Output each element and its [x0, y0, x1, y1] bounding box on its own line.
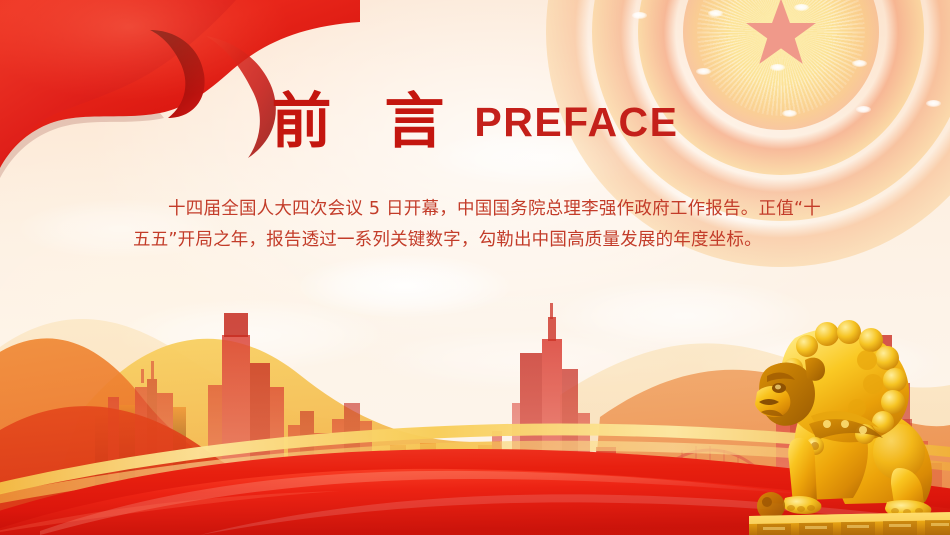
page-title-en: PREFACE	[474, 99, 678, 145]
preface-paragraph: 十四届全国人大四次会议 5 日开幕，中国国务院总理李强作政府工作报告。正值“十五…	[133, 194, 821, 256]
page-title: 前 言PREFACE	[0, 92, 950, 152]
preface-slide: 前 言PREFACE 十四届全国人大四次会议 5 日开幕，中国国务院总理李强作政…	[0, 0, 950, 535]
page-title-cn: 前 言	[271, 87, 460, 157]
background-sky	[0, 0, 950, 535]
